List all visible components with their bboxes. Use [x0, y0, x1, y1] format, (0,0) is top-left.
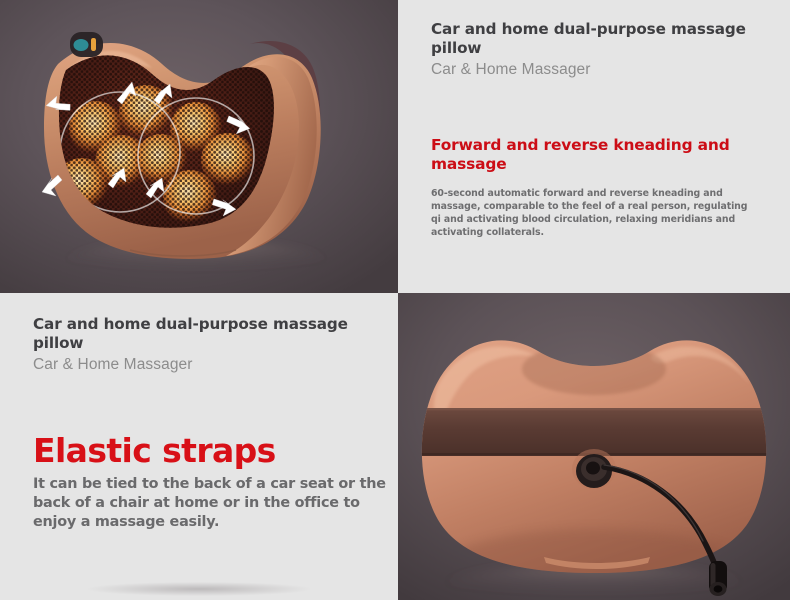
page-title: Car and home dual-purpose massage pillow	[431, 20, 790, 59]
back-view-illustration	[398, 293, 790, 600]
page-subtitle: Car & Home Massager	[33, 355, 398, 375]
elastic-strap	[398, 408, 790, 456]
front-view-illustration	[0, 0, 398, 293]
page-title: Car and home dual-purpose massage pillow	[33, 315, 398, 354]
teal-indicator-icon	[74, 39, 89, 51]
page-subtitle: Car & Home Massager	[431, 60, 790, 80]
feature-heading: Elastic straps	[33, 433, 398, 469]
barrel-plug	[709, 561, 727, 596]
power-control-button[interactable]	[70, 32, 103, 57]
bottom-shadow	[88, 582, 311, 596]
product-detail-sheet: Car and home dual-purpose massage pillow…	[0, 0, 790, 600]
product-photo-back	[398, 293, 790, 600]
product-photo-front	[0, 0, 398, 293]
feature-panel-straps: Car and home dual-purpose massage pillow…	[0, 293, 398, 600]
feature-heading: Forward and reverse kneading and massage	[431, 136, 790, 173]
feature-body: 60-second automatic forward and reverse …	[431, 188, 751, 240]
feature-panel-kneading: Car and home dual-purpose massage pillow…	[398, 0, 790, 293]
amber-indicator-icon	[91, 38, 96, 51]
feature-body: It can be tied to the back of a car seat…	[33, 475, 393, 532]
